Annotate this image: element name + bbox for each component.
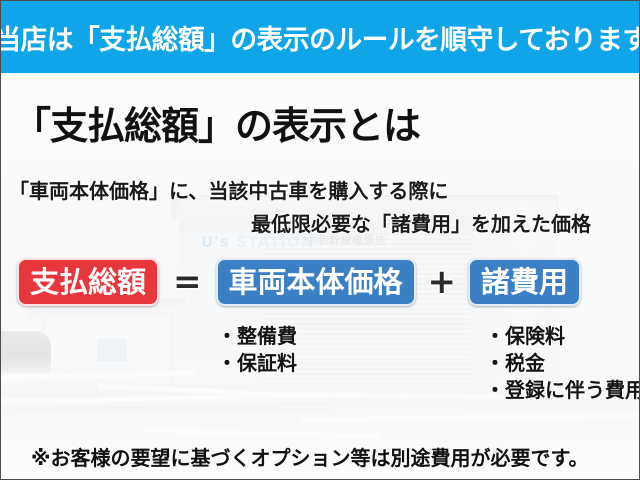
list-item: ・整備費 xyxy=(217,323,297,350)
list-item: ・税金 xyxy=(485,350,640,377)
vehicle-price-box: 車両本体価格 xyxy=(216,258,416,306)
footnote-text: ※お客様の要望に基づくオプション等は別途費用が必要です。 xyxy=(31,442,588,471)
equals-sign: = xyxy=(173,265,202,299)
list-item: ・保険料 xyxy=(485,323,640,350)
vehicle-items-list: ・整備費 ・保証料 xyxy=(217,323,297,377)
fees-label: 諸費用 xyxy=(481,268,568,297)
payment-total-poster: U's STATION 中和幹線橿原店 当店は「支払総額」の表示のルールを順守し… xyxy=(0,0,640,480)
header-banner-text: 当店は「支払総額」の表示のルールを順守しております xyxy=(0,18,640,57)
total-price-label: 支払総額 xyxy=(30,268,146,297)
fee-items-list: ・保険料 ・税金 ・登録に伴う費用 xyxy=(485,323,640,404)
description-line-1: 「車両本体価格」に、当該中古車を購入する際に xyxy=(9,175,448,204)
page-title: 「支払総額」の表示とは xyxy=(13,95,420,150)
list-item: ・登録に伴う費用 xyxy=(485,377,640,404)
plus-sign: + xyxy=(428,265,457,299)
description-line-2: 最低限必要な「諸費用」を加えた価格 xyxy=(251,208,591,237)
total-price-box: 支払総額 xyxy=(17,258,159,306)
poster-content: 当店は「支払総額」の表示のルールを順守しております 「支払総額」の表示とは 「車… xyxy=(1,1,639,479)
fees-box: 諸費用 xyxy=(468,258,581,306)
header-banner: 当店は「支払総額」の表示のルールを順守しております xyxy=(1,1,640,73)
list-item: ・保証料 xyxy=(217,350,297,377)
price-formula: 支払総額 = 車両本体価格 + 諸費用 xyxy=(17,256,581,308)
vehicle-price-label: 車両本体価格 xyxy=(229,268,403,297)
